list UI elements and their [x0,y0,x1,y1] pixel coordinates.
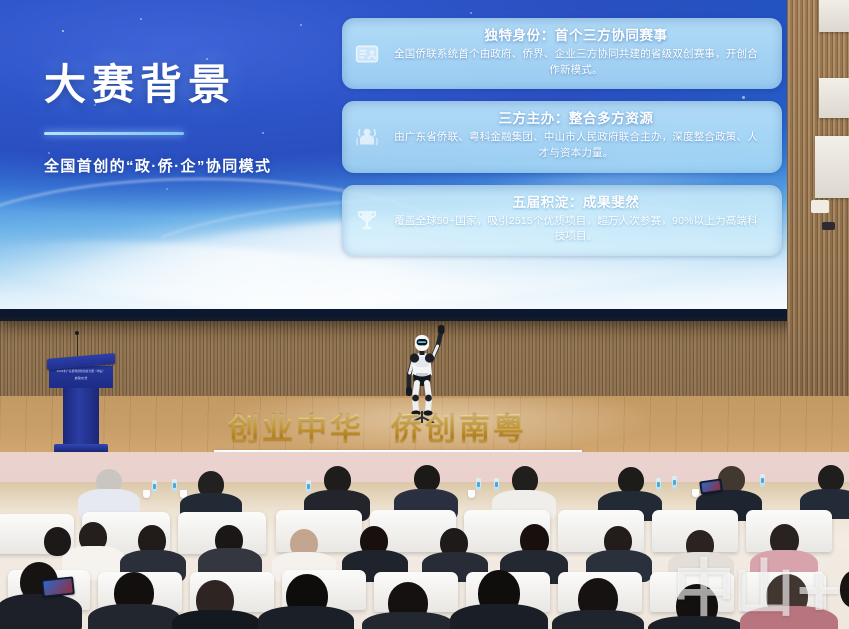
acoustic-panel [819,78,849,118]
watermark: 中山+ [673,560,843,619]
person-body [0,594,82,629]
podium-sign-line2: 启动仪式 [49,375,113,382]
gold-char: 创 [425,414,456,445]
humanoid-robot [390,313,454,423]
gold-char: 创 [228,414,259,445]
water-bottle [494,478,499,491]
led-screen: 大赛背景 全国首创的“政·侨·企”协同模式 [0,0,794,309]
slide-card: 三方主办：整合多方资源 由广东省侨联、粤科金融集团、中山市人民政府联合主办，深度… [342,101,782,172]
chair [276,510,362,552]
id-card-icon [354,41,380,67]
star-dot [166,188,168,190]
tea-cup [143,490,150,498]
person-body [450,604,548,629]
wall-camera-fixture [822,222,835,230]
gold-char: 华 [330,414,361,445]
water-bottle [172,479,177,492]
star-dot [140,18,142,20]
tea-cup [468,490,475,498]
slide-card-title: 独特身份：首个三方协同赛事 [390,28,762,45]
star-dot [62,30,64,32]
person-head [414,465,440,492]
person-head [818,465,844,492]
slide-card: 五届积淀：成果斐然 覆盖全球50+国家，吸引2515个优质项目，超万人次参赛，9… [342,185,782,256]
wooden-wall-right [787,0,849,430]
wall-box-fixture [811,200,829,213]
screenshot-root: 大赛背景 全国首创的“政·侨·企”协同模式 [0,0,849,629]
gold-char: 粤 [493,414,524,445]
slide-card-body: 由广东省侨联、粤科金融集团、中山市人民政府联合主办，深度整合政策、人才与资本力量… [390,130,762,162]
person-head [618,467,644,494]
gold-char: 中 [296,414,327,445]
slide-title-block: 大赛背景 全国首创的“政·侨·企”协同模式 [44,62,334,176]
people-broadcast-icon [354,124,380,150]
smartphone [41,576,75,597]
slide-cards: 独特身份：首个三方协同赛事 全国侨联系统首个由政府、侨界、企业三方协同共建的省级… [342,18,782,268]
auditorium-room: 大赛背景 全国首创的“政·侨·企”协同模式 [0,0,849,629]
water-bottle [306,480,311,493]
slide-title: 大赛背景 [44,62,334,108]
microphone-stalk [77,334,78,358]
slide-card: 独特身份：首个三方协同赛事 全国侨联系统首个由政府、侨界、企业三方协同共建的省级… [342,18,782,89]
microphone-head [75,331,79,335]
gold-char: 业 [262,414,293,445]
acoustic-panel [819,0,849,32]
podium-stem [63,388,99,444]
water-bottle [476,478,481,491]
podium: 2025年广东侨界创新创业大赛（中山） 启动仪式 [47,356,115,453]
stage-gold-slogan: 创 业 中 华 侨 创 南 粤 [228,414,524,445]
acoustic-panel [815,136,849,198]
slide-card-title: 五届积淀：成果斐然 [390,195,762,212]
trophy-icon [354,207,380,233]
person-body [258,606,354,629]
slide-card-title: 三方主办：整合多方资源 [390,111,762,128]
gold-char: 南 [459,414,490,445]
person-body [88,604,180,629]
person-body [552,610,644,629]
water-bottle [152,480,157,493]
water-bottle [760,474,765,487]
podium-sign-panel: 2025年广东侨界创新创业大赛（中山） 启动仪式 [49,366,113,388]
slide-card-body: 覆盖全球50+国家，吸引2515个优质项目，超万人次参赛，90%以上为高端科技项… [390,214,762,246]
led-screen-frame: 大赛背景 全国首创的“政·侨·企”协同模式 [0,0,806,321]
person-head [44,527,71,556]
person-body [172,610,260,629]
slide-card-body: 全国侨联系统首个由政府、侨界、企业三方协同共建的省级双创赛事，开创合作新模式。 [390,47,762,79]
title-divider [44,132,184,135]
star-dot [470,12,472,14]
star-dot [300,24,302,26]
water-bottle [656,478,661,491]
water-bottle [672,476,677,489]
gold-char: 侨 [391,414,422,445]
slide-subtitle: 全国首创的“政·侨·企”协同模式 [44,155,334,176]
person-body [362,612,454,629]
